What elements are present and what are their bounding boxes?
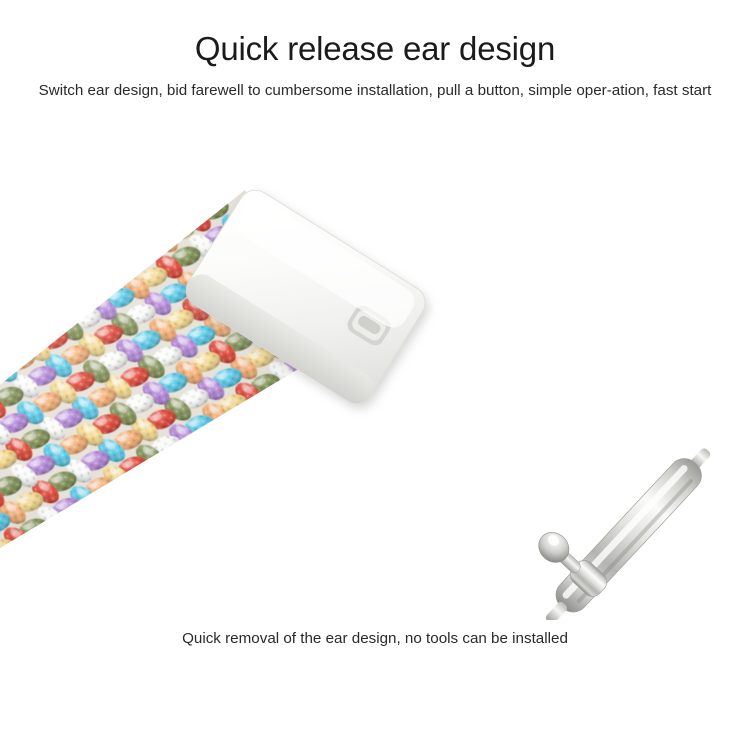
page-subtitle: Switch ear design, bid farewell to cumbe…: [28, 79, 722, 104]
weave-segment: [175, 180, 209, 206]
weave-segment: [43, 263, 77, 289]
weave-segment: [0, 304, 11, 330]
product-photo: [0, 150, 750, 620]
footer-caption: Quick removal of the ear design, no tool…: [0, 628, 750, 651]
weave-segment: [0, 328, 17, 360]
weave-segment: [32, 300, 66, 326]
weave-segment: [59, 250, 94, 282]
product-marketing-image: Quick release ear design Switch ear desi…: [0, 0, 750, 750]
weave-segment: [0, 320, 33, 346]
weave-segment: [125, 208, 160, 240]
weave-segment: [92, 229, 127, 261]
weave-segment: [142, 201, 176, 227]
weave-segment: [98, 258, 132, 284]
weave-segment: [14, 307, 49, 339]
weave-segment: [47, 286, 82, 318]
weave-segment: [81, 266, 116, 298]
weave-segment: [0, 543, 2, 575]
weave-segment: [158, 188, 193, 220]
weave-segment: [109, 222, 143, 248]
weave-segment: [76, 242, 110, 268]
weave-segment: [10, 284, 44, 310]
weave-segment: [0, 291, 28, 323]
quick-release-spring-bar: [503, 408, 722, 620]
weave-segment: [65, 279, 99, 305]
weave-segment: [191, 167, 226, 199]
weave-segment: [26, 270, 61, 302]
page-title: Quick release ear design: [0, 30, 750, 68]
